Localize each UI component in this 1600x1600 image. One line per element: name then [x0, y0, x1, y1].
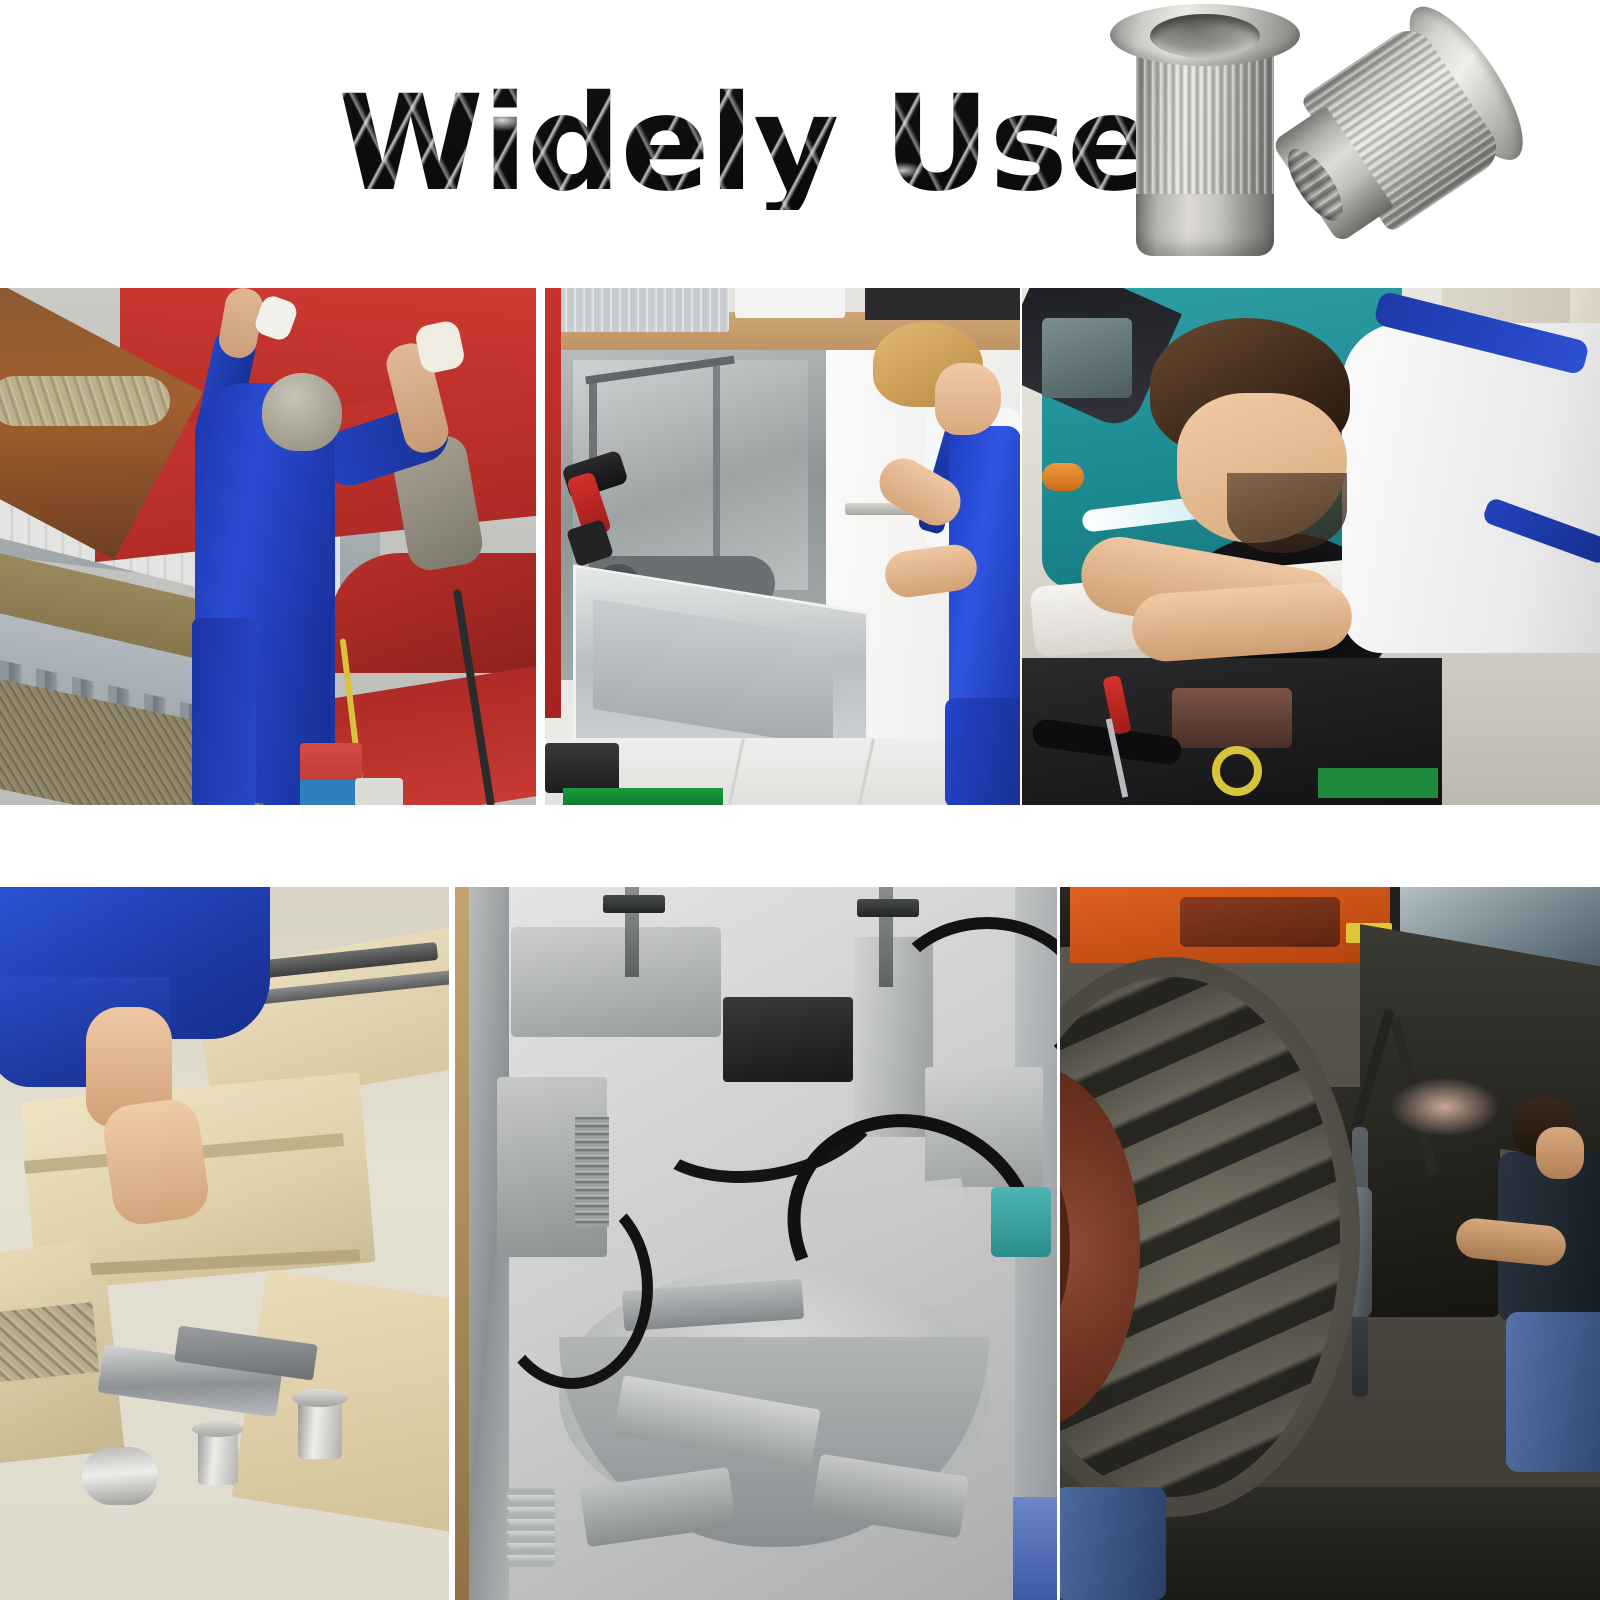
photo-furniture-assembly [0, 887, 449, 1600]
photo-tractor-repair [1060, 887, 1600, 1600]
photo-dishwasher-installation [545, 288, 1020, 805]
photo-car-engine-repair [1022, 288, 1600, 805]
rivet-bore [1150, 14, 1260, 58]
rivet-smooth-shank [1136, 194, 1274, 256]
photo-shipyard-steel-work [0, 288, 536, 805]
photo-automated-assembly-machine [455, 887, 1057, 1600]
gallery-row-top [0, 288, 1600, 805]
rivet-nut-upright-icon [1110, 4, 1300, 269]
rivet-nut-tilted-icon [1269, 0, 1600, 322]
header-banner: Widely Used [0, 0, 1600, 288]
rivet-nut-product-shot [1080, 0, 1600, 286]
product-feature-image: Widely Used [0, 0, 1600, 1600]
gallery-row-bottom [0, 887, 1600, 1600]
